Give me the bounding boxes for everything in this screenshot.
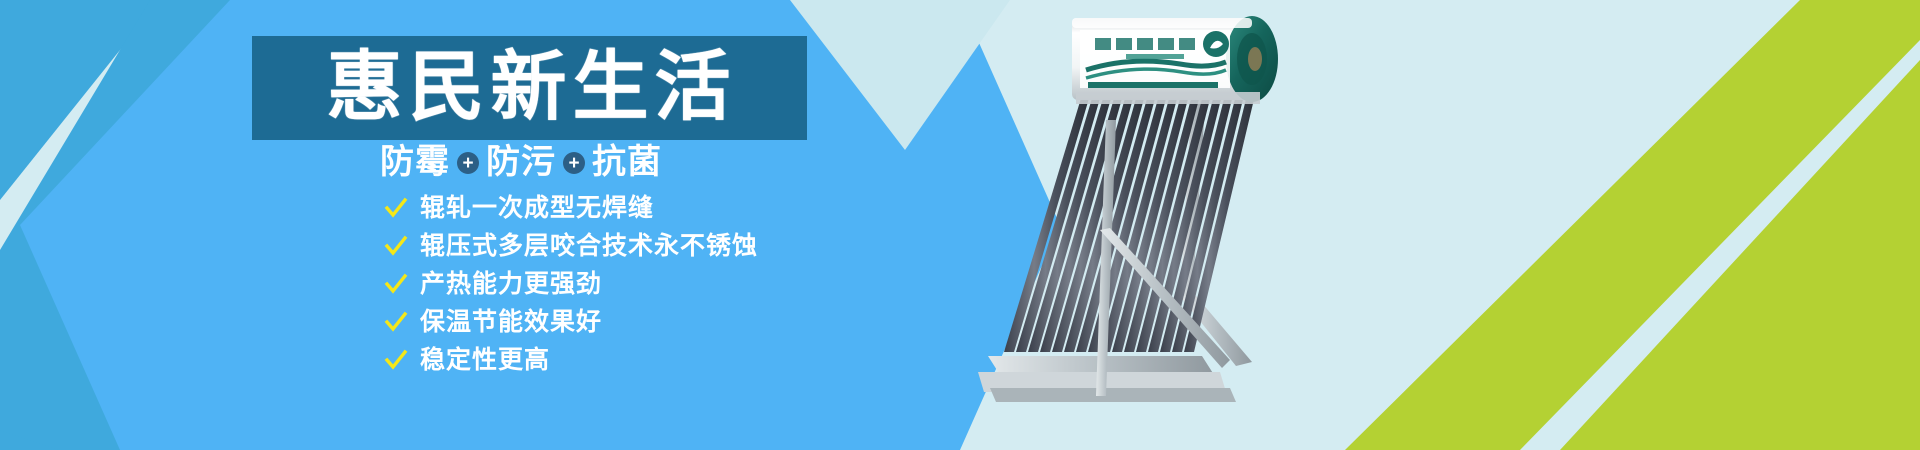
tank-label (1080, 30, 1230, 88)
list-item: 保温节能效果好 (384, 306, 864, 338)
promo-banner: 惠民新生活 防霉 + 防污 + 抗菌 辊轧一次成型无焊缝 辊压式多层咬合技术永不… (0, 0, 1920, 450)
check-icon (384, 310, 408, 334)
tank-highlight (1072, 18, 1252, 28)
check-icon (384, 196, 408, 220)
list-item: 辊压式多层咬合技术永不锈蚀 (384, 230, 864, 262)
subtitle-row: 防霉 + 防污 + 抗菌 (380, 140, 810, 184)
list-item-label: 辊轧一次成型无焊缝 (420, 196, 654, 221)
list-item: 稳定性更高 (384, 344, 864, 376)
feature-list: 辊轧一次成型无焊缝 辊压式多层咬合技术永不锈蚀 产热能力更强劲 保温节能效果好 (384, 192, 864, 382)
check-icon (384, 234, 408, 258)
plus-badge-icon: + (457, 152, 479, 174)
plus-badge-icon: + (563, 152, 585, 174)
list-item-label: 稳定性更高 (420, 348, 550, 373)
list-item-label: 保温节能效果好 (420, 310, 602, 335)
subtitle-word-2: 防污 (486, 145, 556, 179)
check-icon (384, 348, 408, 372)
evacuated-tube-array (1004, 95, 1255, 352)
list-item: 辊轧一次成型无焊缝 (384, 192, 864, 224)
tank-end-port (1248, 47, 1262, 71)
check-icon (384, 272, 408, 296)
base-tray-shadow (990, 388, 1236, 402)
list-item: 产热能力更强劲 (384, 268, 864, 300)
product-image (930, 0, 1350, 450)
subtitle-word-3: 抗菌 (592, 145, 662, 179)
label-underbar (1088, 82, 1218, 88)
page-title: 惠民新生活 (323, 50, 737, 126)
list-item-label: 辊压式多层咬合技术永不锈蚀 (420, 234, 758, 259)
tube-top-rail (1076, 92, 1260, 104)
solar-water-heater-illustration (930, 0, 1350, 450)
subtitle-word-1: 防霉 (380, 145, 450, 179)
list-item-label: 产热能力更强劲 (420, 272, 602, 297)
title-box: 惠民新生活 (252, 36, 807, 140)
